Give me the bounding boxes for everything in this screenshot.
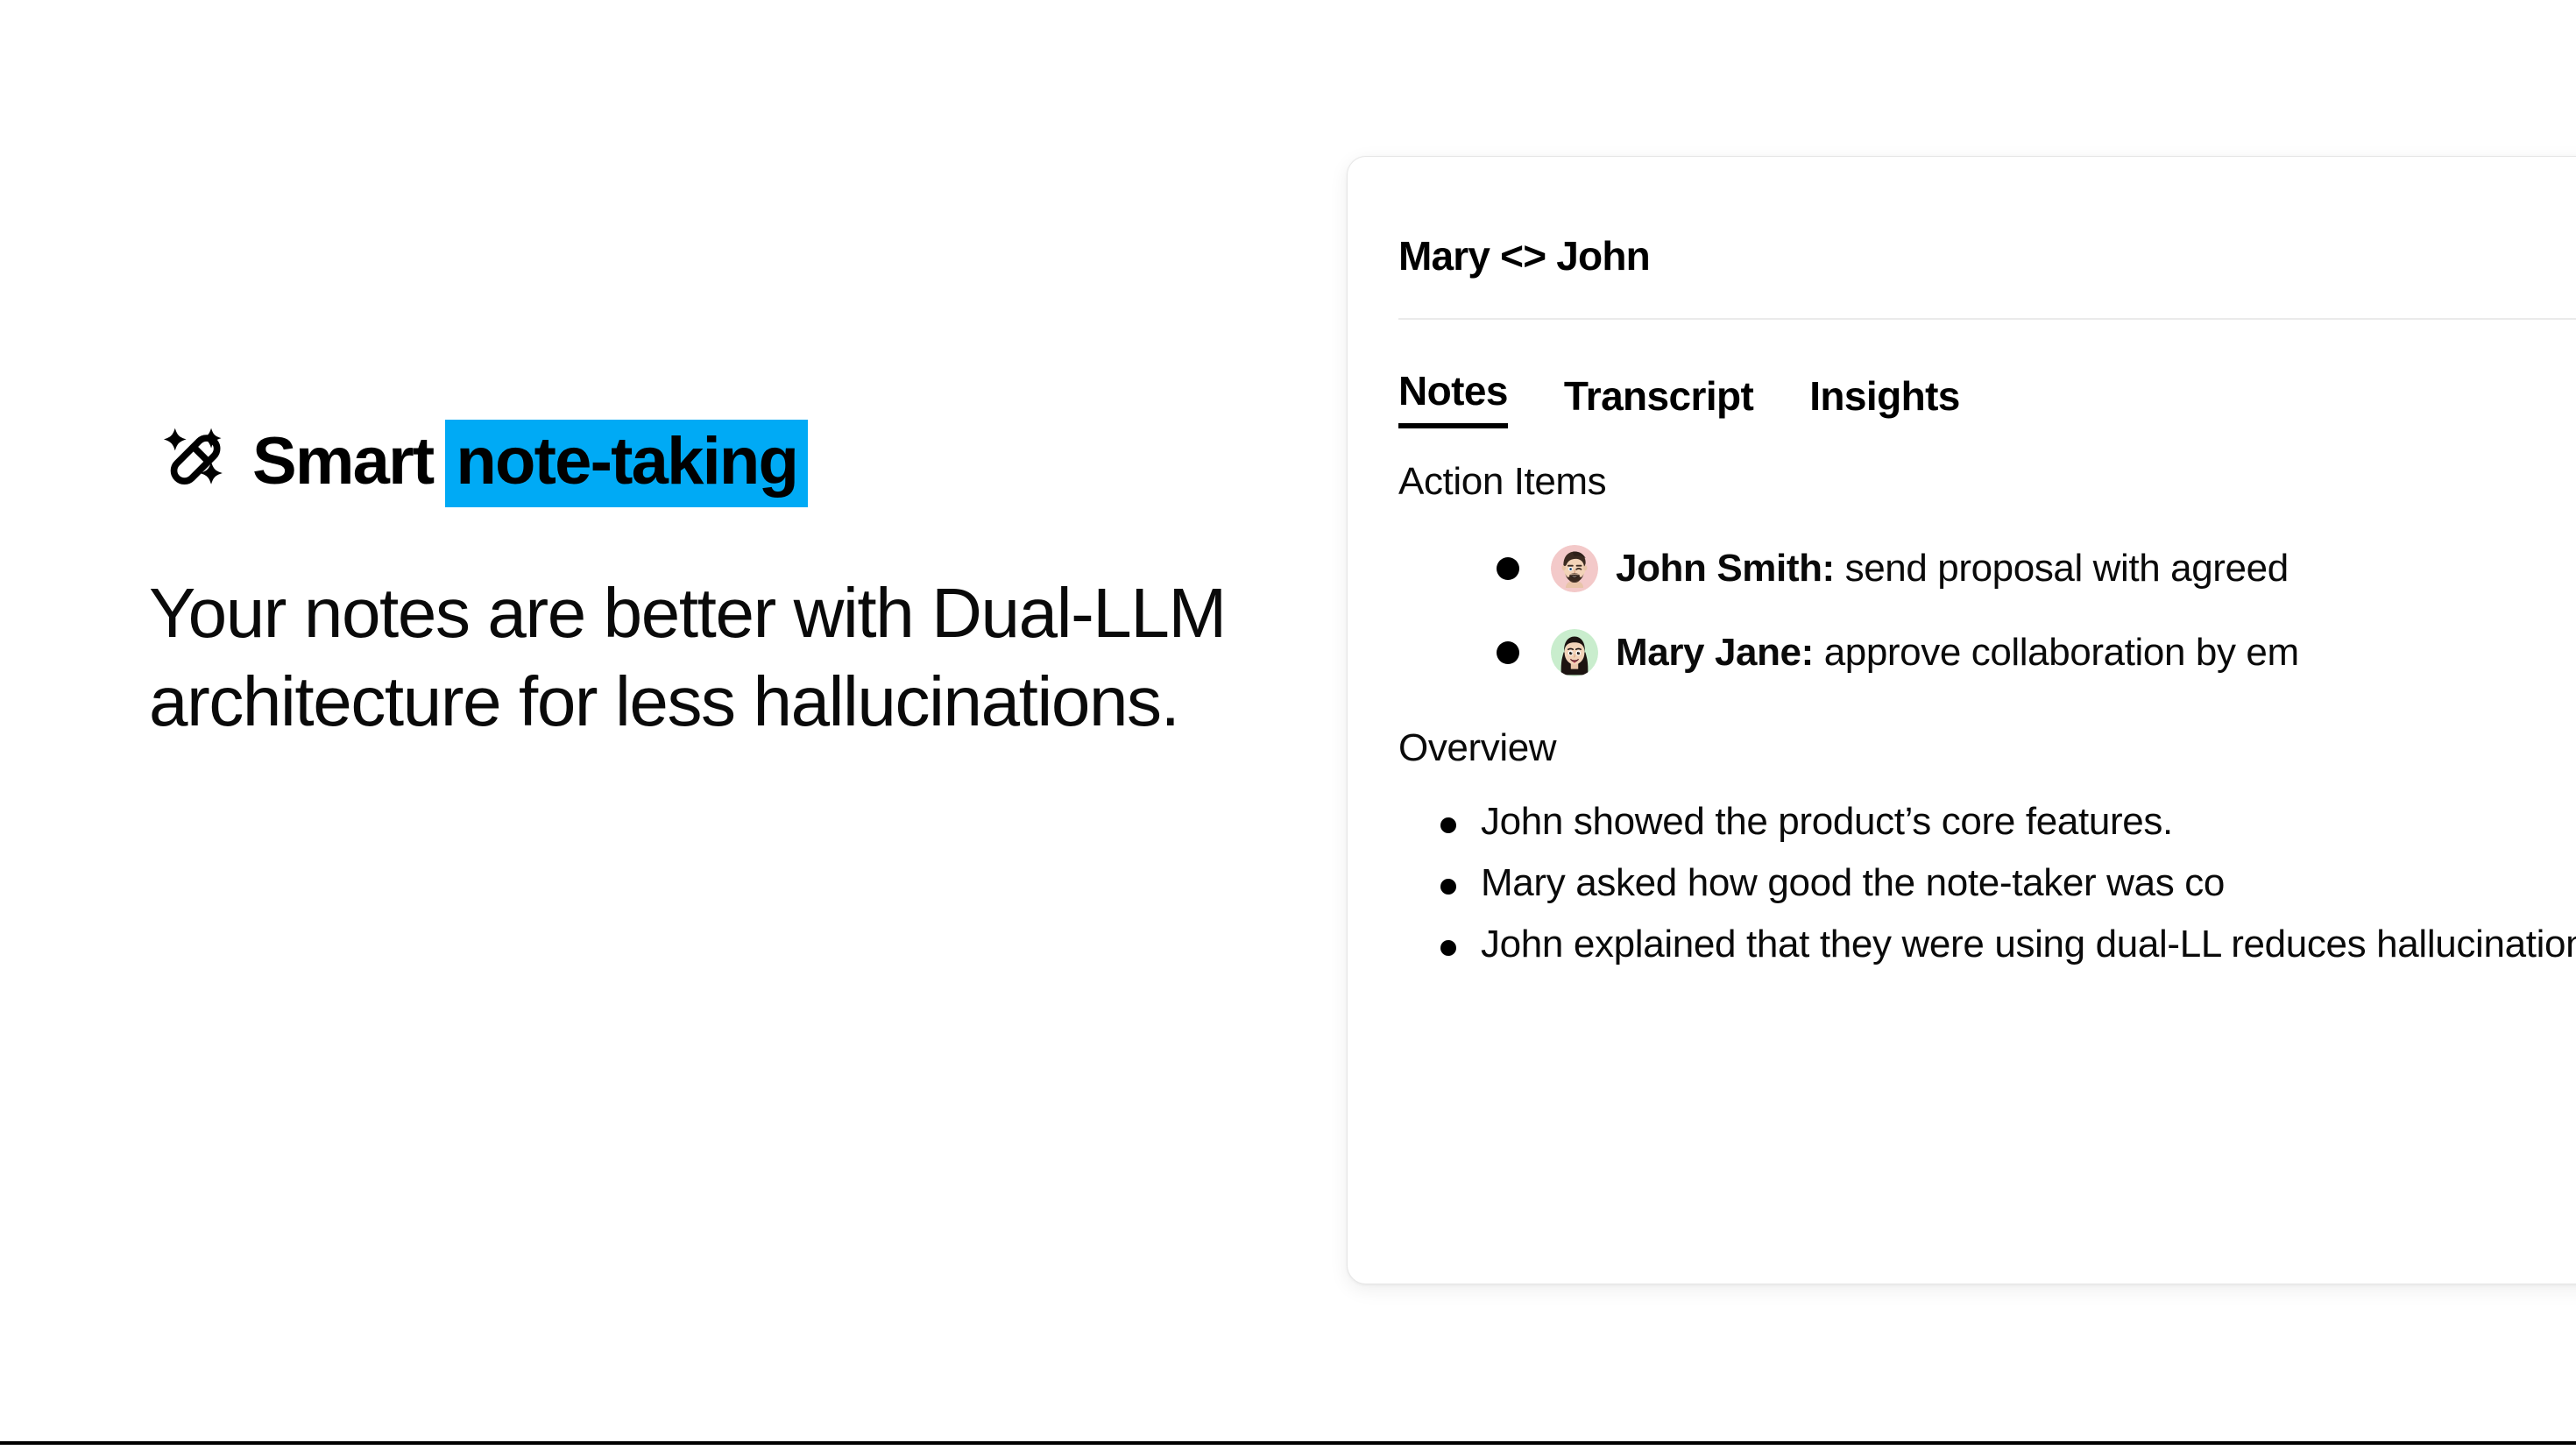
action-item-text: send proposal with agreed [1845, 547, 2289, 591]
memoji-john-avatar [1551, 545, 1598, 592]
action-item-person: Mary Jane: [1616, 631, 1814, 675]
action-item-row[interactable]: Mary Jane: approve collaboration by em [1398, 611, 2576, 695]
card-tabs: Notes Transcript Insights [1398, 365, 2576, 428]
meeting-title: Mary <> John [1398, 157, 2576, 279]
page-root: Smartnote-taking Your notes are better w… [0, 0, 2576, 1450]
notes-card: Mary <> John Notes Transcript Insights A… [1347, 156, 2576, 1284]
list-item: Mary asked how good the note-taker was c… [1398, 854, 2576, 912]
overview-list: John showed the product’s core features.… [1398, 793, 2576, 973]
hero-eyebrow-highlight: note-taking [445, 420, 808, 507]
memoji-mary-avatar [1551, 629, 1598, 676]
action-item-row[interactable]: John Smith: send proposal with agreed [1398, 527, 2576, 611]
magic-wand-sparkles-icon [149, 421, 233, 506]
bullet-icon [1497, 557, 1519, 580]
action-items-heading: Action Items [1398, 460, 2576, 504]
hero-eyebrow-prefix: Smart [252, 424, 433, 499]
action-items-list: John Smith: send proposal with agreed [1398, 527, 2576, 695]
list-item: John explained that they were using dual… [1398, 916, 2576, 973]
tab-insights[interactable]: Insights [1809, 372, 1960, 428]
tab-transcript[interactable]: Transcript [1564, 372, 1753, 428]
tab-notes[interactable]: Notes [1398, 367, 1508, 428]
action-item-person: John Smith: [1616, 547, 1835, 591]
notes-card-body: Mary <> John Notes Transcript Insights A… [1348, 157, 2576, 973]
hero-headline: Your notes are better with Dual-LLM arch… [149, 569, 1227, 746]
hero-eyebrow-text: Smartnote-taking [252, 420, 808, 507]
list-item: John showed the product’s core features. [1398, 793, 2576, 851]
action-item-text: approve collaboration by em [1824, 631, 2299, 675]
card-divider [1398, 318, 2576, 320]
page-bottom-rule [0, 1441, 2576, 1445]
hero-copy-block: Smartnote-taking Your notes are better w… [149, 412, 1244, 746]
hero-eyebrow: Smartnote-taking [149, 412, 1244, 515]
bullet-icon [1497, 641, 1519, 664]
overview-heading: Overview [1398, 726, 2576, 770]
